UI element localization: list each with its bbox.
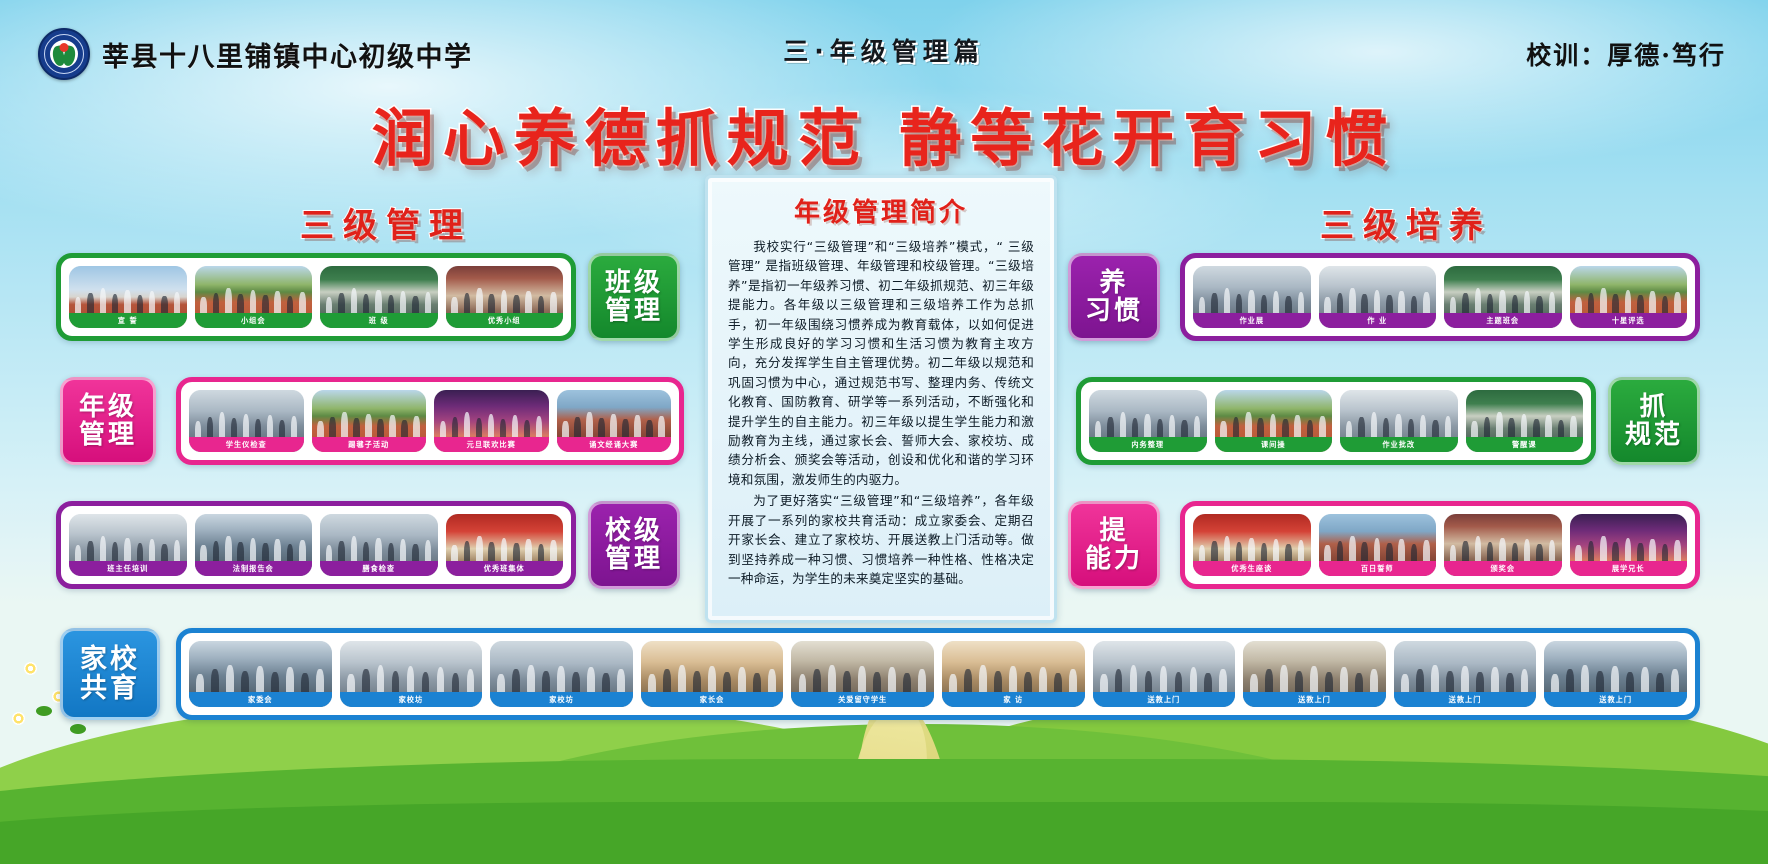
photo-norm-cultivation-1: 内务整理 <box>1089 390 1207 452</box>
photo-home-school-coeducation-9: 送教上门 <box>1394 641 1537 707</box>
photo-caption: 颁奖会 <box>1444 561 1562 576</box>
photo-home-school-coeducation-2: 家校坊 <box>340 641 483 707</box>
photo-caption: 作业展 <box>1193 313 1311 328</box>
photo-home-school-coeducation-4: 家长会 <box>641 641 784 707</box>
photo-caption: 元旦联欢比赛 <box>434 437 549 452</box>
photo-school-management-1: 班主任培训 <box>69 514 187 576</box>
photo-caption: 优秀小组 <box>446 313 564 328</box>
photo-caption: 警醒课 <box>1466 437 1584 452</box>
photo-grade-management-1: 学生仪检查 <box>189 390 304 452</box>
photo-grade-management-4: 诵文经诵大赛 <box>557 390 672 452</box>
section-title-right: 三级培养 <box>1320 198 1492 247</box>
main-slogan: 润心养德抓规范 静等花开育习惯 <box>372 88 1397 178</box>
photo-caption: 课间操 <box>1215 437 1333 452</box>
photo-grade-management-3: 元旦联欢比赛 <box>434 390 549 452</box>
photo-ability-cultivation-1: 优秀生座谈 <box>1193 514 1311 576</box>
row-label-ability-cultivation[interactable]: 提能力 <box>1068 501 1160 589</box>
photo-caption: 关爱留守学生 <box>791 692 934 707</box>
row-label-line-2: 习惯 <box>1085 297 1143 325</box>
photo-home-school-coeducation-8: 送教上门 <box>1243 641 1386 707</box>
row-label-line-1: 校级 <box>605 517 663 545</box>
section-title-left: 三级管理 <box>300 198 472 247</box>
row-label-grade-management[interactable]: 年级管理 <box>60 377 156 465</box>
photo-caption: 家长会 <box>641 692 784 707</box>
school-name: 莘县十八里铺镇中心初级中学 <box>102 35 473 74</box>
row-label-school-management[interactable]: 校级管理 <box>588 501 680 589</box>
intro-panel: 年级管理简介 我校实行“三级管理”和“三级培养”模式，“ 三级管理” 是指班级管… <box>705 175 1057 623</box>
photo-school-management-3: 膳食检查 <box>320 514 438 576</box>
photo-class-management-2: 小组会 <box>195 266 313 328</box>
school-emblem-icon <box>38 28 90 80</box>
photo-strip-class-management: 宣 誓小组会班 级优秀小组 <box>56 253 576 341</box>
photo-caption: 作 业 <box>1319 313 1437 328</box>
photo-strip-school-management: 班主任培训法制报告会膳食检查优秀班集体 <box>56 501 576 589</box>
row-label-habit-cultivation[interactable]: 养习惯 <box>1068 253 1160 341</box>
photo-caption: 十星评选 <box>1570 313 1688 328</box>
photo-caption: 家委会 <box>189 692 332 707</box>
photo-school-management-4: 优秀班集体 <box>446 514 564 576</box>
photo-strip-habit-cultivation: 作业展作 业主题班会十星评选 <box>1180 253 1700 341</box>
photo-home-school-coeducation-3: 家校坊 <box>490 641 633 707</box>
photo-caption: 内务整理 <box>1089 437 1207 452</box>
row-label-line-2: 管理 <box>79 421 137 449</box>
photo-caption: 踢毽子活动 <box>312 437 427 452</box>
photo-home-school-coeducation-5: 关爱留守学生 <box>791 641 934 707</box>
photo-strip-ability-cultivation: 优秀生座谈百日誓师颁奖会展学兄长 <box>1180 501 1700 589</box>
photo-caption: 法制报告会 <box>195 561 313 576</box>
photo-caption: 诵文经诵大赛 <box>557 437 672 452</box>
photo-ability-cultivation-3: 颁奖会 <box>1444 514 1562 576</box>
display-board: 莘县十八里铺镇中心初级中学 三·年级管理篇 校训：厚德·笃行 润心养德抓规范 静… <box>0 0 1768 864</box>
row-label-line-2: 规范 <box>1625 421 1683 449</box>
row-label-line-2: 管理 <box>605 545 663 573</box>
photo-strip-grade-management: 学生仪检查踢毽子活动元旦联欢比赛诵文经诵大赛 <box>176 377 684 465</box>
photo-caption: 送教上门 <box>1544 692 1687 707</box>
header-bar: 莘县十八里铺镇中心初级中学 三·年级管理篇 校训：厚德·笃行 <box>0 26 1768 82</box>
photo-caption: 送教上门 <box>1394 692 1537 707</box>
photo-caption: 送教上门 <box>1093 692 1236 707</box>
photo-caption: 优秀生座谈 <box>1193 561 1311 576</box>
row-label-home-school-coeducation[interactable]: 家校共育 <box>60 628 160 720</box>
row-label-line-2: 共育 <box>80 674 140 703</box>
flower-icon <box>24 662 37 675</box>
photo-home-school-coeducation-1: 家委会 <box>189 641 332 707</box>
photo-caption: 展学兄长 <box>1570 561 1688 576</box>
row-label-line-1: 班级 <box>605 269 663 297</box>
photo-caption: 宣 誓 <box>69 313 187 328</box>
photo-caption: 班主任培训 <box>69 561 187 576</box>
topic-badge: 三·年级管理篇 <box>783 32 985 68</box>
photo-caption: 膳食检查 <box>320 561 438 576</box>
photo-norm-cultivation-2: 课间操 <box>1215 390 1333 452</box>
row-label-norm-cultivation[interactable]: 抓规范 <box>1608 377 1700 465</box>
leaf-icon <box>36 706 52 716</box>
photo-caption: 作业批改 <box>1340 437 1458 452</box>
school-brand: 莘县十八里铺镇中心初级中学 <box>38 28 473 80</box>
photo-home-school-coeducation-10: 送教上门 <box>1544 641 1687 707</box>
photo-caption: 小组会 <box>195 313 313 328</box>
photo-habit-cultivation-4: 十星评选 <box>1570 266 1688 328</box>
photo-strip-home-school-coeducation: 家委会家校坊家校坊家长会关爱留守学生家 访送教上门送教上门送教上门送教上门 <box>176 628 1700 720</box>
photo-norm-cultivation-3: 作业批改 <box>1340 390 1458 452</box>
photo-caption: 班 级 <box>320 313 438 328</box>
row-label-class-management[interactable]: 班级管理 <box>588 253 680 341</box>
photo-habit-cultivation-3: 主题班会 <box>1444 266 1562 328</box>
photo-habit-cultivation-1: 作业展 <box>1193 266 1311 328</box>
photo-caption: 优秀班集体 <box>446 561 564 576</box>
photo-caption: 送教上门 <box>1243 692 1386 707</box>
photo-caption: 家校坊 <box>490 692 633 707</box>
row-label-line-1: 提 <box>1099 517 1128 545</box>
photo-norm-cultivation-4: 警醒课 <box>1466 390 1584 452</box>
photo-ability-cultivation-4: 展学兄长 <box>1570 514 1688 576</box>
row-label-line-1: 抓 <box>1639 393 1668 421</box>
photo-grade-management-2: 踢毽子活动 <box>312 390 427 452</box>
photo-class-management-4: 优秀小组 <box>446 266 564 328</box>
photo-ability-cultivation-2: 百日誓师 <box>1319 514 1437 576</box>
row-label-line-2: 能力 <box>1085 545 1143 573</box>
photo-school-management-2: 法制报告会 <box>195 514 313 576</box>
school-motto: 校训：厚德·笃行 <box>1526 36 1726 72</box>
leaf-icon <box>70 724 86 734</box>
photo-caption: 家校坊 <box>340 692 483 707</box>
photo-caption: 主题班会 <box>1444 313 1562 328</box>
photo-home-school-coeducation-6: 家 访 <box>942 641 1085 707</box>
intro-paragraph-1: 我校实行“三级管理”和“三级培养”模式，“ 三级管理” 是指班级管理、年级管理和… <box>728 237 1034 489</box>
photo-caption: 百日誓师 <box>1319 561 1437 576</box>
row-label-line-1: 养 <box>1099 269 1128 297</box>
photo-class-management-3: 班 级 <box>320 266 438 328</box>
hill-front <box>0 802 1768 864</box>
photo-habit-cultivation-2: 作 业 <box>1319 266 1437 328</box>
photo-caption: 家 访 <box>942 692 1085 707</box>
row-label-line-1: 家校 <box>80 645 140 674</box>
row-label-line-1: 年级 <box>79 393 137 421</box>
row-label-line-2: 管理 <box>605 297 663 325</box>
photo-caption: 学生仪检查 <box>189 437 304 452</box>
intro-title: 年级管理简介 <box>728 192 1034 229</box>
photo-strip-norm-cultivation: 内务整理课间操作业批改警醒课 <box>1076 377 1596 465</box>
intro-paragraph-2: 为了更好落实“三级管理”和“三级培养”，各年级开展了一系列的家校共育活动：成立家… <box>728 491 1034 588</box>
flower-icon <box>12 712 25 725</box>
photo-home-school-coeducation-7: 送教上门 <box>1093 641 1236 707</box>
photo-class-management-1: 宣 誓 <box>69 266 187 328</box>
